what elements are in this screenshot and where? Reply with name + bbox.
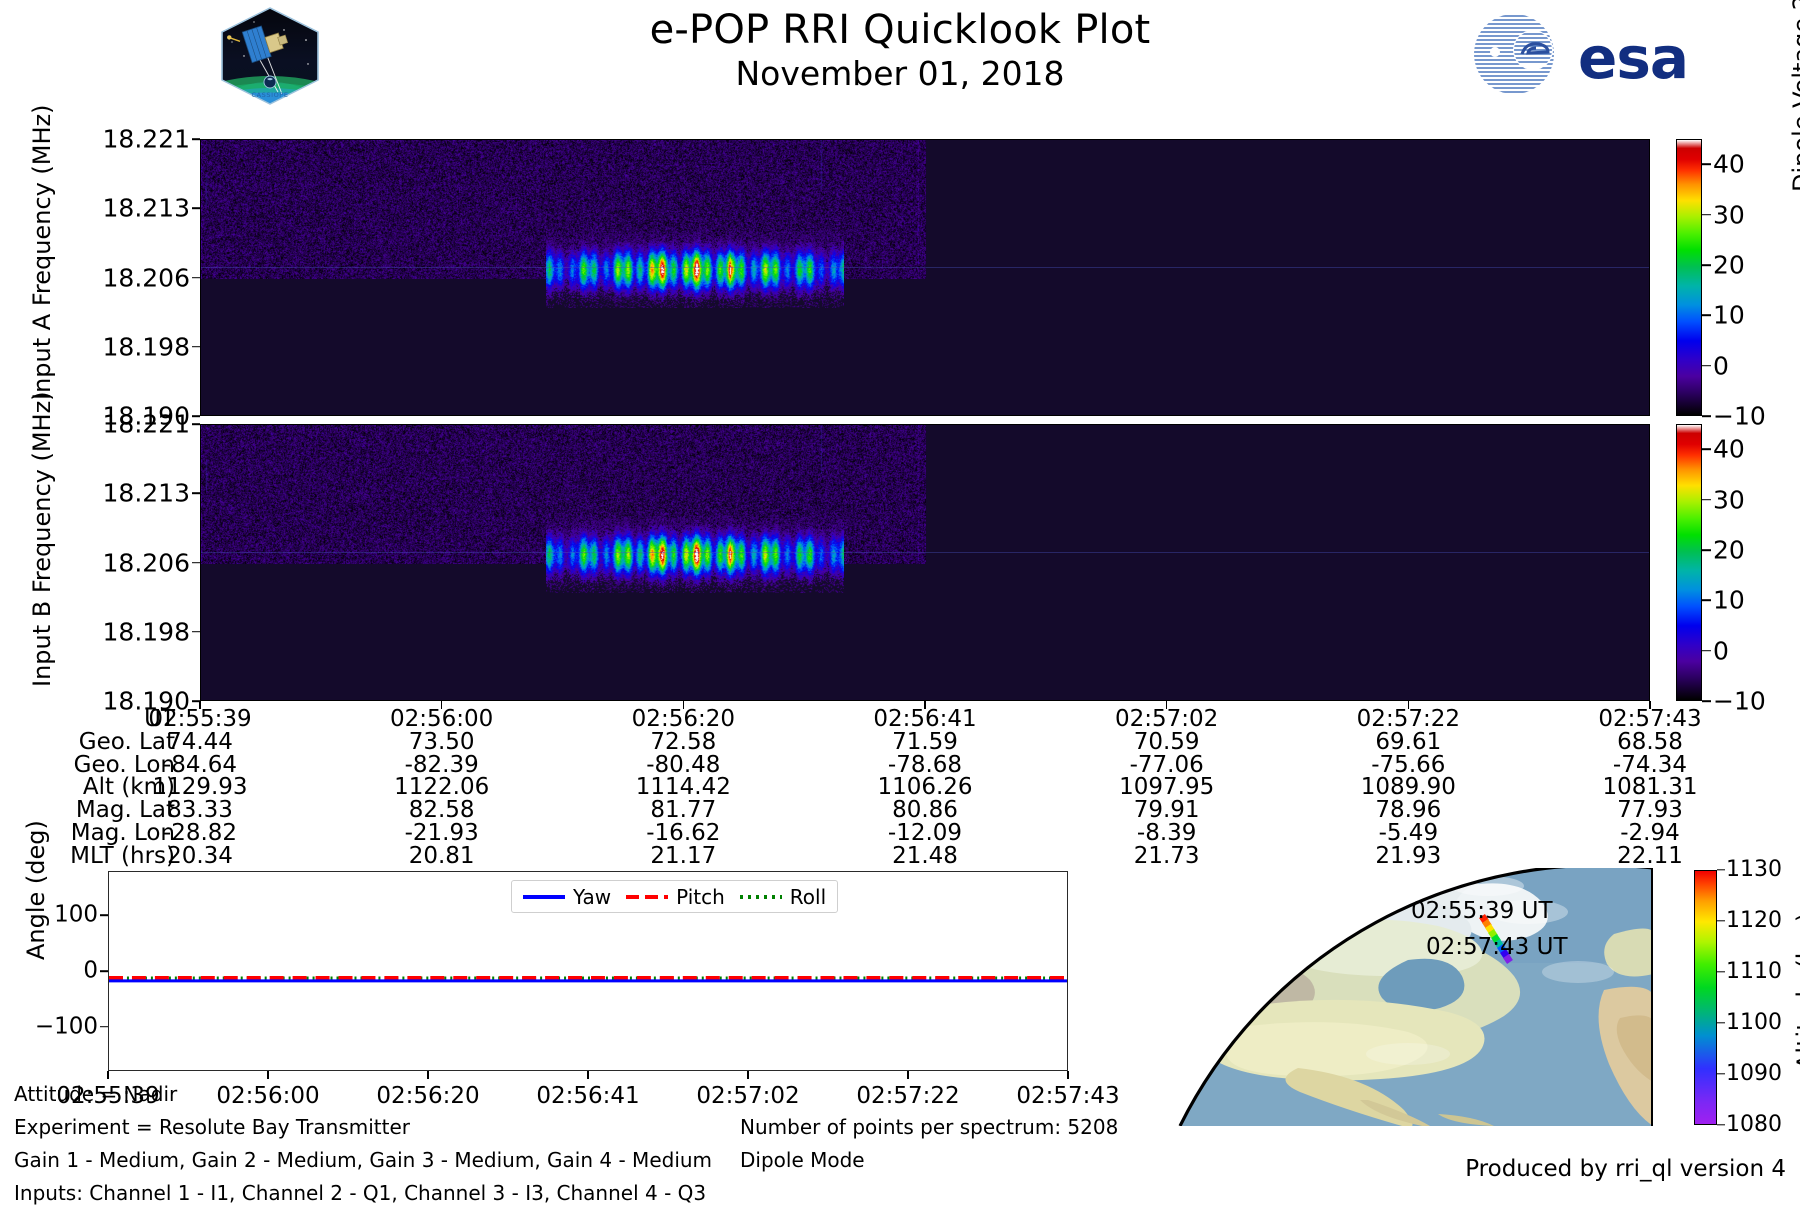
- spectrogram-a-ytick-mark: [192, 207, 200, 209]
- ephemeris-cell: 02:55:39: [90, 708, 310, 731]
- altitude-colorbar-tick-mark: [1717, 1022, 1725, 1023]
- voltage-colorbar-a-tick-label: 20: [1713, 252, 1745, 277]
- ephemeris-cell: 1114.42: [573, 776, 793, 799]
- ephemeris-cell: 77.93: [1540, 799, 1760, 822]
- ephemeris-cell: -16.62: [573, 822, 793, 845]
- attitude-xtick-mark: [107, 1071, 109, 1079]
- legend-swatch-yaw: [523, 895, 565, 899]
- ephemeris-cell: 71.59: [815, 731, 1035, 754]
- attitude-ytick-mark: [100, 1026, 108, 1028]
- attitude-xtick-mark: [427, 1071, 429, 1079]
- spectrogram-a-ytick-mark: [192, 415, 200, 417]
- ephemeris-cell: 1081.31: [1540, 776, 1760, 799]
- spectrogram-b-ytick-label: 18.198: [60, 619, 190, 644]
- voltage-colorbar-a-tick-label: 40: [1713, 152, 1745, 177]
- ephemeris-cell: -28.82: [90, 822, 310, 845]
- spectrogram-b-plot[interactable]: [200, 424, 1650, 701]
- attitude-xtick-label: 02:57:22: [828, 1085, 988, 1108]
- ephemeris-row: Mag. Lat83.3382.5881.7780.8679.9178.9677…: [0, 799, 1672, 822]
- voltage-colorbar-a: [1676, 139, 1702, 416]
- esa-wordmark: esa: [1578, 24, 1688, 92]
- spectrogram-b-ylabel: Input B Frequency (MHz): [28, 391, 56, 687]
- altitude-colorbar-tick-label: 1130: [1726, 859, 1782, 881]
- ephemeris-cell: -5.49: [1298, 822, 1518, 845]
- voltage-colorbar-b-tick-mark: [1702, 650, 1711, 652]
- ephemeris-row: Geo. Lat74.4473.5072.5871.5970.5969.6168…: [0, 731, 1672, 754]
- attitude-ylabel: Angle (deg): [22, 820, 50, 960]
- spectrogram-a-plot[interactable]: [200, 139, 1650, 416]
- spectrogram-b-ytick-mark: [192, 562, 200, 564]
- ephemeris-cell: 1089.90: [1298, 776, 1518, 799]
- voltage-colorbar-b-gradient: [1677, 425, 1701, 700]
- ephemeris-cell: 68.58: [1540, 731, 1760, 754]
- cassiope-logo-caption: CASSIOPE: [251, 91, 288, 99]
- voltage-colorbar-b-tick-mark: [1702, 448, 1711, 450]
- spectrogram-b-faint-line: [201, 552, 1649, 553]
- ephemeris-cell: 1122.06: [332, 776, 552, 799]
- title-block: e-POP RRI Quicklook Plot November 01, 20…: [400, 6, 1400, 94]
- ephemeris-cell: -21.93: [332, 822, 552, 845]
- attitude-ytick-label: 100: [0, 904, 98, 927]
- attitude-ytick-mark: [100, 915, 108, 917]
- ephemeris-cell: 21.73: [1057, 845, 1277, 868]
- ephemeris-row: Mag. Lon-28.82-21.93-16.62-12.09-8.39-5.…: [0, 822, 1672, 845]
- attitude-xtick-label: 02:57:02: [668, 1085, 828, 1108]
- voltage-colorbar-a-tick-mark: [1702, 415, 1711, 417]
- ephemeris-cell: 02:56:00: [332, 708, 552, 731]
- footer-attitude: Attitude = Nadir: [14, 1084, 177, 1104]
- ephemeris-cell: -74.34: [1540, 754, 1760, 777]
- ephemeris-cell: 79.91: [1057, 799, 1277, 822]
- spectrogram-b-ytick-mark: [192, 631, 200, 633]
- attitude-xtick-mark: [1067, 1071, 1069, 1079]
- ephemeris-cell: 21.17: [573, 845, 793, 868]
- ephemeris-cell: 73.50: [332, 731, 552, 754]
- ephemeris-cell: 69.61: [1298, 731, 1518, 754]
- attitude-ytick-mark: [100, 970, 108, 972]
- ephemeris-cell: -8.39: [1057, 822, 1277, 845]
- voltage-colorbar-a-tick-mark: [1702, 314, 1711, 316]
- voltage-colorbar-b-tick-label: 20: [1713, 537, 1745, 562]
- ephemeris-cell: -80.48: [573, 754, 793, 777]
- legend-item-roll: Roll: [740, 887, 826, 907]
- ephemeris-cell: -12.09: [815, 822, 1035, 845]
- ephemeris-cell: 81.77: [573, 799, 793, 822]
- spectrogram-a-ytick-label: 18.213: [60, 196, 190, 221]
- voltage-colorbar-b-tick-mark: [1702, 499, 1711, 501]
- legend-swatch-roll: [740, 895, 782, 899]
- ephemeris-cell: -77.06: [1057, 754, 1277, 777]
- altitude-colorbar-gradient: [1695, 871, 1716, 1124]
- voltage-colorbar-b-tick-label: 30: [1713, 487, 1745, 512]
- spectrogram-b-ytick-label: 18.206: [60, 550, 190, 575]
- page-title: e-POP RRI Quicklook Plot: [400, 6, 1400, 54]
- altitude-colorbar-tick-mark: [1717, 869, 1725, 870]
- ephemeris-cell: 74.44: [90, 731, 310, 754]
- attitude-xtick-label: 02:56:00: [188, 1085, 348, 1108]
- voltage-colorbar-b-tick-label: 40: [1713, 437, 1745, 462]
- spectrogram-a-ylabel: Input A Frequency (MHz): [28, 104, 56, 400]
- spectrogram-a-faint-line: [201, 267, 1649, 268]
- map-end-time-label: 02:57:43 UT: [1426, 936, 1568, 959]
- ephemeris-cell: -2.94: [1540, 822, 1760, 845]
- spectrogram-a-ytick-label: 18.221: [60, 127, 190, 152]
- ephemeris-cell: 20.34: [90, 845, 310, 868]
- ephemeris-cell: -75.66: [1298, 754, 1518, 777]
- voltage-colorbar-a-tick-label: −10: [1713, 404, 1766, 429]
- ephemeris-cell: 21.48: [815, 845, 1035, 868]
- attitude-ytick-label: 0: [0, 960, 98, 983]
- spectrogram-a-ytick-mark: [192, 346, 200, 348]
- altitude-colorbar-tick-mark: [1717, 971, 1725, 972]
- attitude-xtick-mark: [907, 1071, 909, 1079]
- ephemeris-cell: 1097.95: [1057, 776, 1277, 799]
- attitude-ytick-label: −100: [0, 1015, 98, 1038]
- attitude-xtick-mark: [267, 1071, 269, 1079]
- spectrogram-b-ytick-mark: [192, 423, 200, 425]
- footer-gains: Gain 1 - Medium, Gain 2 - Medium, Gain 3…: [14, 1150, 712, 1170]
- altitude-colorbar-tick-label: 1090: [1726, 1063, 1782, 1085]
- attitude-plot[interactable]: Yaw Pitch Roll: [108, 871, 1068, 1071]
- ephemeris-cell: 80.86: [815, 799, 1035, 822]
- ephemeris-cell: 02:57:02: [1057, 708, 1277, 731]
- altitude-colorbar-label: Altitude (km): [1792, 913, 1800, 1070]
- ephemeris-cell: 82.58: [332, 799, 552, 822]
- ephemeris-cell: 83.33: [90, 799, 310, 822]
- altitude-colorbar: [1694, 870, 1717, 1125]
- altitude-colorbar-tick-label: 1080: [1726, 1114, 1782, 1136]
- ephemeris-cell: -78.68: [815, 754, 1035, 777]
- voltage-colorbar-label: Dipole Voltage 20log(μVBS): [1788, 0, 1800, 192]
- ephemeris-cell: 02:57:22: [1298, 708, 1518, 731]
- ephemeris-cell: 70.59: [1057, 731, 1277, 754]
- legend-item-yaw: Yaw: [523, 887, 611, 907]
- voltage-colorbar-a-tick-label: 10: [1713, 303, 1745, 328]
- ephemeris-cell: 1129.93: [90, 776, 310, 799]
- spectrogram-b-ytick-label: 18.213: [60, 481, 190, 506]
- voltage-colorbar-a-tick-mark: [1702, 365, 1711, 367]
- legend-label-roll: Roll: [790, 887, 826, 907]
- ephemeris-cell: 02:57:43: [1540, 708, 1760, 731]
- cassiope-logo-icon: CASSIOPE: [218, 6, 323, 106]
- ephemeris-cell: 78.96: [1298, 799, 1518, 822]
- spectrogram-a-ytick-label: 18.198: [60, 334, 190, 359]
- altitude-colorbar-tick-mark: [1717, 1124, 1725, 1125]
- altitude-colorbar-tick-label: 1120: [1726, 910, 1782, 932]
- page-header: CASSIOPE e-POP RRI Quicklook Plot Novemb…: [0, 0, 1800, 110]
- footer-points-per-spectrum: Number of points per spectrum: 5208: [740, 1117, 1118, 1137]
- spectrogram-b-ytick-mark: [192, 492, 200, 494]
- ephemeris-cell: -82.39: [332, 754, 552, 777]
- ephemeris-row: UT02:55:3902:56:0002:56:2002:56:4102:57:…: [0, 708, 1672, 731]
- voltage-colorbar-b-tick-mark: [1702, 700, 1711, 702]
- map-start-time-label: 02:55:39 UT: [1411, 900, 1553, 923]
- spectrogram-b-ytick-label: 18.221: [60, 412, 190, 437]
- attitude-xtick-mark: [587, 1071, 589, 1079]
- page-subtitle: November 01, 2018: [400, 54, 1400, 94]
- spectrogram-b-signal: [546, 516, 844, 593]
- spectrogram-a-ytick-mark: [192, 277, 200, 279]
- ephemeris-cell: 21.93: [1298, 845, 1518, 868]
- voltage-colorbar-a-tick-label: 30: [1713, 202, 1745, 227]
- footer-experiment: Experiment = Resolute Bay Transmitter: [14, 1117, 410, 1137]
- ephemeris-cell: 20.81: [332, 845, 552, 868]
- spectrogram-a-ytick-mark: [192, 138, 200, 140]
- voltage-colorbar-b-tick-label: 10: [1713, 588, 1745, 613]
- footer-produced-by: Produced by rri_ql version 4: [1465, 1158, 1786, 1181]
- footer-inputs: Inputs: Channel 1 - I1, Channel 2 - Q1, …: [14, 1183, 706, 1203]
- voltage-colorbar-b-tick-label: 0: [1713, 638, 1729, 663]
- spectrogram-a-ytick-label: 18.206: [60, 265, 190, 290]
- ephemeris-row: Geo. Lon-84.64-82.39-80.48-78.68-77.06-7…: [0, 754, 1672, 777]
- ephemeris-cell: 02:56:41: [815, 708, 1035, 731]
- attitude-legend: Yaw Pitch Roll: [511, 880, 838, 913]
- esa-logo-icon: esa: [1470, 10, 1700, 98]
- ephemeris-cell: 72.58: [573, 731, 793, 754]
- legend-label-yaw: Yaw: [573, 887, 611, 907]
- ephemeris-row: Alt (km)1129.931122.061114.421106.261097…: [0, 776, 1672, 799]
- voltage-colorbar-a-tick-mark: [1702, 163, 1711, 165]
- voltage-colorbar-a-tick-mark: [1702, 264, 1711, 266]
- ephemeris-table: UT02:55:3902:56:0002:56:2002:56:4102:57:…: [0, 708, 1672, 868]
- voltage-colorbar-b-tick-mark: [1702, 549, 1711, 551]
- ephemeris-cell: 1106.26: [815, 776, 1035, 799]
- legend-item-pitch: Pitch: [626, 887, 725, 907]
- altitude-colorbar-tick-mark: [1717, 920, 1725, 921]
- voltage-colorbar-b: [1676, 424, 1702, 701]
- voltage-colorbar-b-tick-mark: [1702, 599, 1711, 601]
- legend-swatch-pitch: [626, 895, 668, 899]
- altitude-colorbar-tick-mark: [1717, 1073, 1725, 1074]
- voltage-colorbar-a-tick-label: 0: [1713, 353, 1729, 378]
- ground-track-map[interactable]: 02:55:39 UT 02:57:43 UT: [1108, 868, 1653, 1126]
- attitude-xtick-label: 02:56:20: [348, 1085, 508, 1108]
- ephemeris-cell: 02:56:20: [573, 708, 793, 731]
- voltage-colorbar-a-tick-mark: [1702, 214, 1711, 216]
- attitude-xtick-label: 02:56:41: [508, 1085, 668, 1108]
- spectrogram-a-signal: [546, 231, 844, 308]
- ephemeris-row: MLT (hrs)20.3420.8121.1721.4821.7321.932…: [0, 845, 1672, 868]
- altitude-colorbar-tick-label: 1100: [1726, 1012, 1782, 1034]
- ephemeris-cell: -84.64: [90, 754, 310, 777]
- attitude-xtick-mark: [747, 1071, 749, 1079]
- footer-mode: Dipole Mode: [740, 1150, 865, 1170]
- altitude-colorbar-tick-label: 1110: [1726, 961, 1782, 983]
- legend-label-pitch: Pitch: [676, 887, 725, 907]
- voltage-colorbar-a-gradient: [1677, 140, 1701, 415]
